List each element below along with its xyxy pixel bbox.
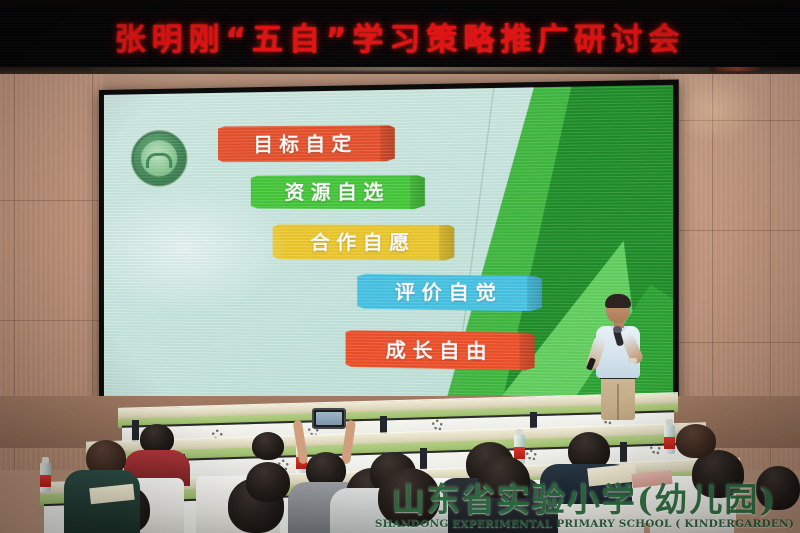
slide-banner-5: 成长自由 <box>345 330 534 371</box>
water-bottle <box>40 462 51 492</box>
presenter-person <box>588 296 650 418</box>
audience-head <box>378 468 440 526</box>
slide-banner-4: 评价自觉 <box>357 274 542 311</box>
audience-head <box>246 462 290 502</box>
wristwatch-icon <box>628 358 637 363</box>
water-bottle <box>664 424 675 454</box>
emblem-inner-mark <box>141 140 177 177</box>
school-crest-emblem <box>131 130 187 187</box>
audience-shoulders <box>448 498 558 533</box>
slide-banner-1: 目标自定 <box>218 124 395 163</box>
audience-head <box>756 466 800 510</box>
audience-head <box>676 424 716 458</box>
smartphone-icon <box>312 408 346 429</box>
led-banner-title: 张明刚“五自”学习策略推广研讨会 <box>115 14 686 59</box>
wall-light-glow <box>670 74 760 144</box>
led-banner: 张明刚“五自”学习策略推广研讨会 <box>0 5 800 67</box>
slide-banner-2: 资源自选 <box>251 174 425 210</box>
audience-head <box>252 432 284 460</box>
slide-banner-3: 合作自愿 <box>273 224 455 260</box>
seminar-photo-scene: 张明刚“五自”学习策略推广研讨会 目标自定 资源自选 合作自愿 评价自觉 成长自… <box>0 0 800 533</box>
